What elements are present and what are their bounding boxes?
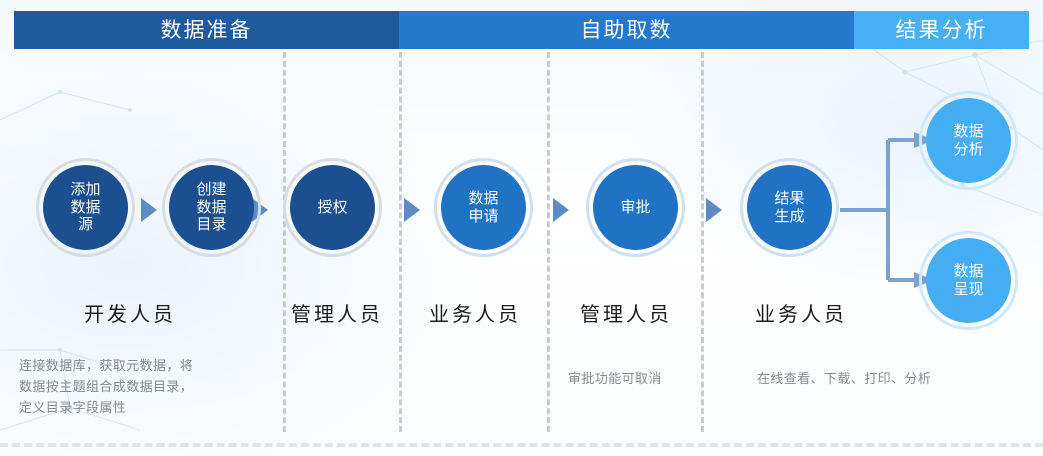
node-label: 结果 生成 (774, 190, 804, 225)
node-approval[interactable]: 审批 (593, 165, 678, 250)
node-add-data-source[interactable]: 添加 数据 源 (43, 165, 128, 250)
role-label-business-2: 业务人员 (755, 305, 847, 325)
divider-2 (399, 52, 402, 432)
node-result-generation[interactable]: 结果 生成 (747, 165, 832, 250)
phase-header-bar: 数据准备 自助取数 结果分析 (14, 11, 1029, 49)
description-result-analysis: 在线查看、下载、打印、分析 (757, 368, 987, 389)
node-label: 添加 数据 源 (70, 181, 100, 234)
phase-self-service-query[interactable]: 自助取数 (399, 11, 854, 49)
node-label: 授权 (317, 199, 347, 217)
arrow-3-icon (404, 198, 420, 222)
arrow-1-icon (141, 198, 157, 222)
phase-label: 数据准备 (161, 20, 253, 41)
role-label-developer: 开发人员 (84, 305, 176, 325)
divider-3 (547, 52, 550, 432)
arrow-4-icon (553, 198, 569, 222)
description-approval: 审批功能可取消 (568, 368, 728, 389)
description-data-preparation: 连接数据库，获取元数据，将 数据按主题组合成数据目录， 定义目录字段属性 (19, 355, 269, 418)
role-label-administrator-1: 管理人员 (291, 305, 383, 325)
role-label-business-1: 业务人员 (429, 305, 521, 325)
diagram-canvas: 数据准备 自助取数 结果分析 添加 数据 源 创建 数据 目 (0, 0, 1043, 456)
node-label: 审批 (620, 199, 650, 217)
node-label: 数据 申请 (468, 190, 498, 225)
node-create-data-catalog[interactable]: 创建 数据 目录 (169, 165, 254, 250)
phase-label: 自助取数 (581, 20, 673, 41)
phase-label: 结果分析 (896, 20, 988, 41)
divider-1 (283, 52, 286, 432)
phase-result-analysis[interactable]: 结果分析 (854, 11, 1029, 49)
node-label: 数据 分析 (953, 123, 983, 158)
node-label: 创建 数据 目录 (196, 181, 226, 234)
arrow-5-icon (706, 198, 722, 222)
node-data-request[interactable]: 数据 申请 (441, 165, 526, 250)
role-label-administrator-2: 管理人员 (580, 305, 672, 325)
bottom-divider (0, 443, 1043, 447)
node-data-presentation[interactable]: 数据 呈现 (926, 238, 1011, 323)
node-label: 数据 呈现 (953, 263, 983, 298)
phase-data-preparation[interactable]: 数据准备 (14, 11, 399, 49)
node-data-analysis[interactable]: 数据 分析 (926, 98, 1011, 183)
node-authorize[interactable]: 授权 (290, 165, 375, 250)
